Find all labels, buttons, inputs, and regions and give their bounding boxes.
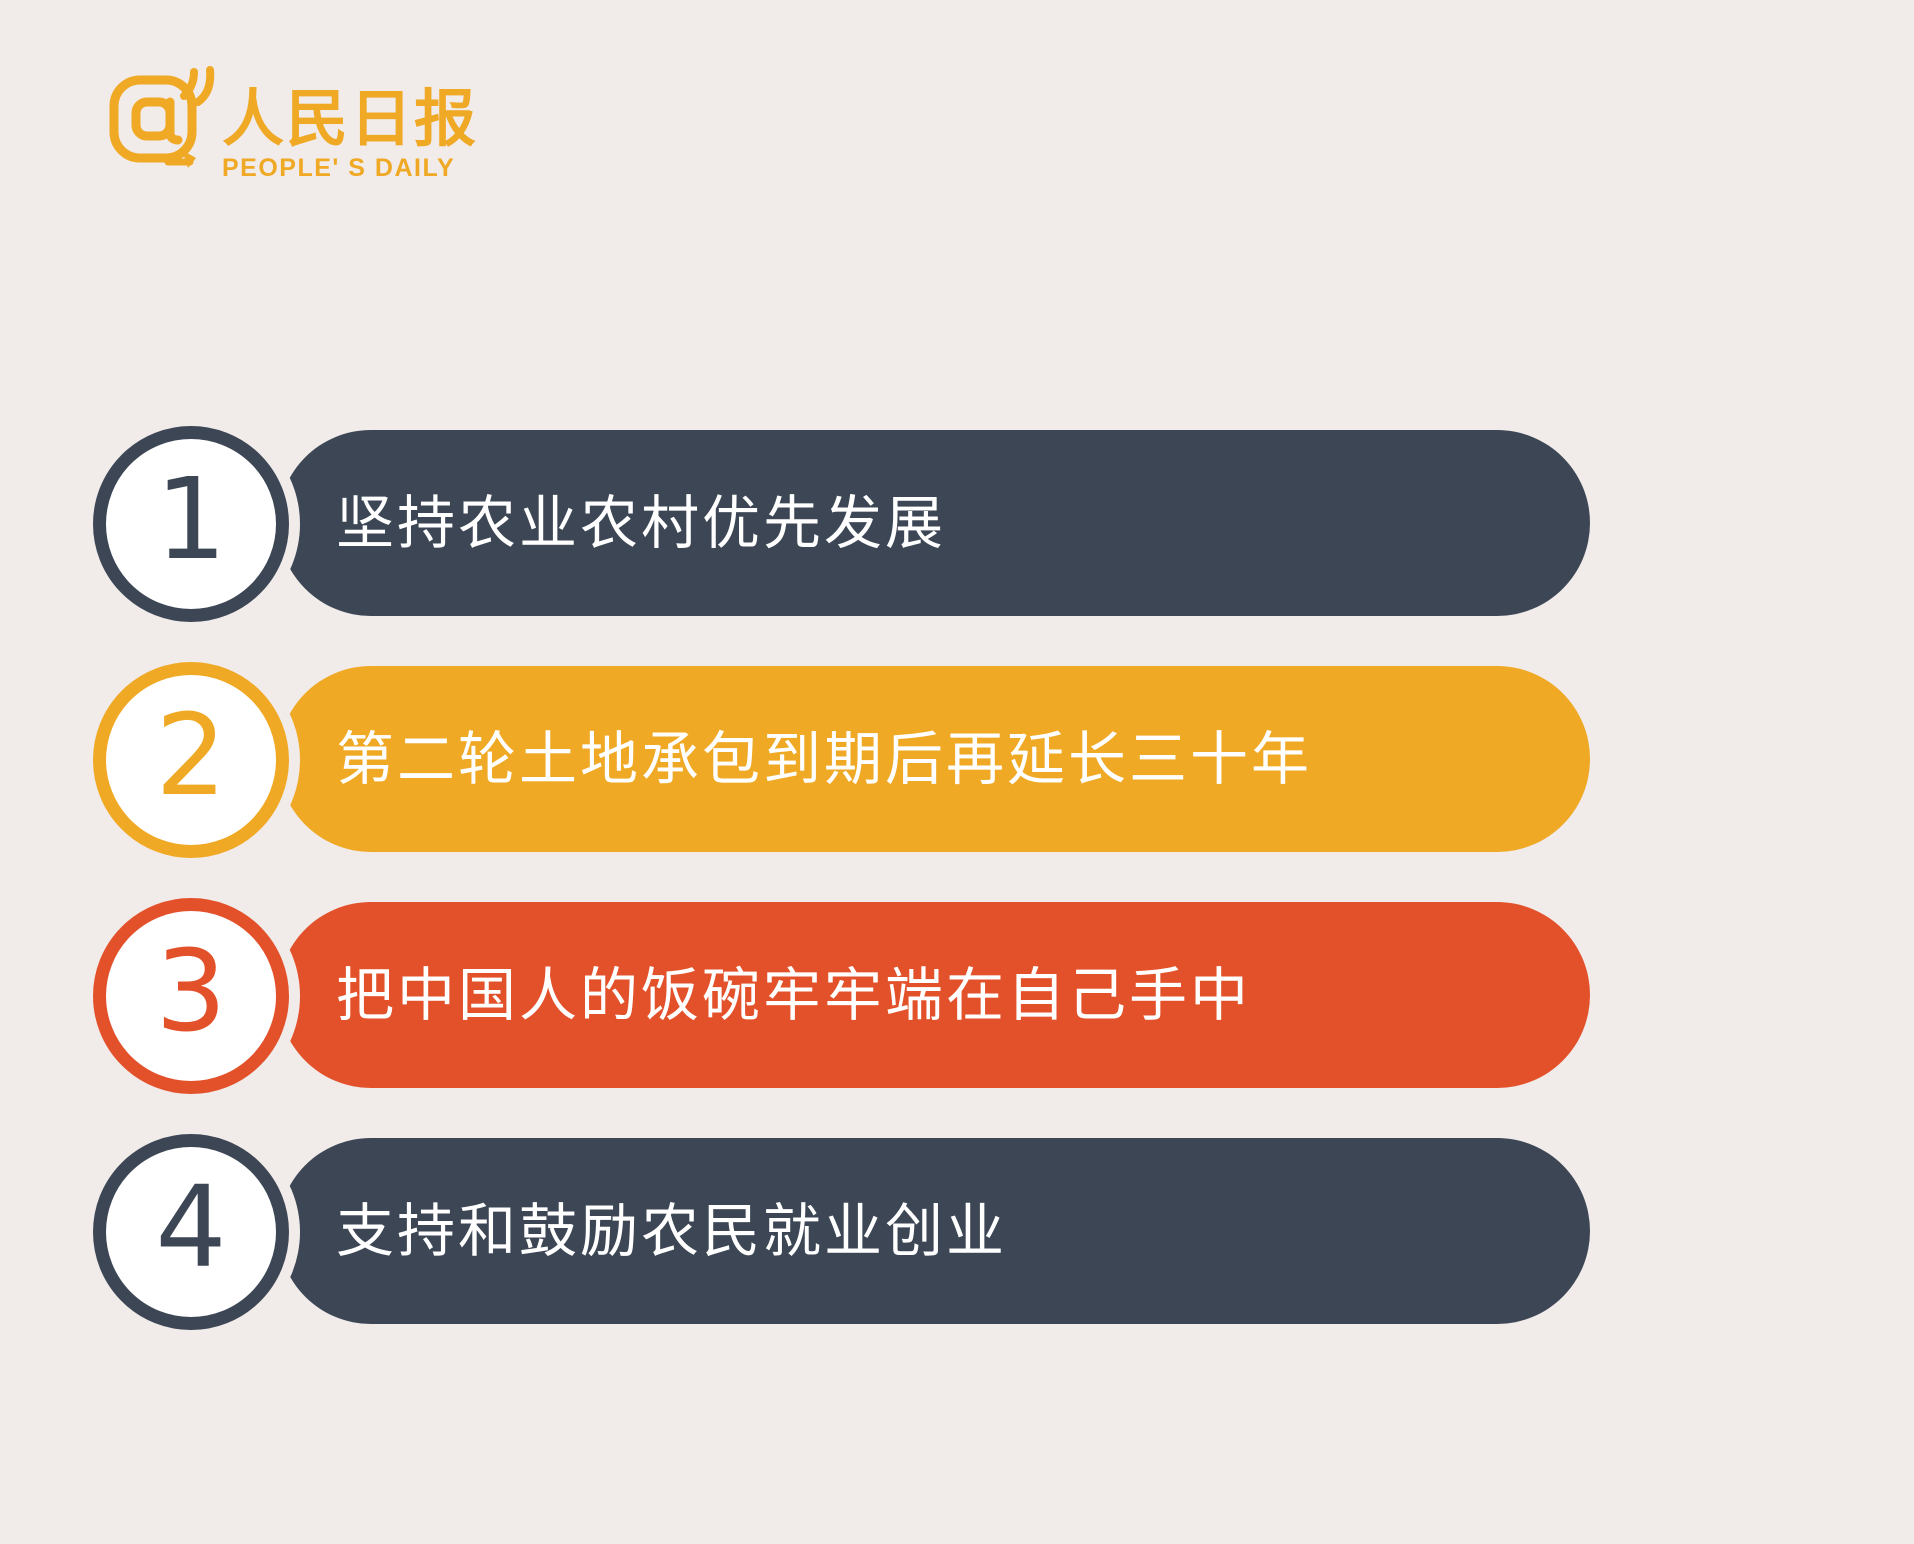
- list-item-bar-3: 把中国人的饭碗牢牢端在自己手中: [278, 902, 1590, 1088]
- list-item-number: 4: [155, 1172, 226, 1284]
- list-item-bar-4: 支持和鼓励农民就业创业: [278, 1138, 1590, 1324]
- list-item: 把中国人的饭碗牢牢端在自己手中 3: [0, 902, 1914, 1088]
- publisher-logo: 人民日报 PEOPLE' S DAILY: [108, 62, 478, 181]
- list-item: 第二轮土地承包到期后再延长三十年 2: [0, 666, 1914, 852]
- list-item-label: 支持和鼓励农民就业创业: [336, 1202, 1007, 1260]
- logo-brand-cn: 人民日报: [222, 88, 478, 150]
- numbered-list: 坚持农业农村优先发展 1 第二轮土地承包到期后再延长三十年 2 把中国人的饭碗牢…: [0, 430, 1914, 1324]
- list-item-badge-1: 1: [93, 426, 289, 622]
- list-item-number: 3: [155, 936, 226, 1048]
- list-item-label: 第二轮土地承包到期后再延长三十年: [336, 730, 1312, 788]
- list-item: 坚持农业农村优先发展 1: [0, 430, 1914, 616]
- logo-brand-en: PEOPLE' S DAILY: [222, 156, 478, 181]
- list-item-number: 1: [155, 464, 226, 576]
- list-item-label: 坚持农业农村优先发展: [336, 494, 946, 552]
- list-item-bar-2: 第二轮土地承包到期后再延长三十年: [278, 666, 1590, 852]
- list-item-number: 2: [155, 700, 226, 812]
- list-item: 支持和鼓励农民就业创业 4: [0, 1138, 1914, 1324]
- list-item-badge-2: 2: [93, 662, 289, 858]
- list-item-bar-1: 坚持农业农村优先发展: [278, 430, 1590, 616]
- list-item-label: 把中国人的饭碗牢牢端在自己手中: [336, 966, 1251, 1024]
- list-item-badge-4: 4: [93, 1134, 289, 1330]
- at-sign-wifi-icon: [108, 62, 216, 174]
- list-item-badge-3: 3: [93, 898, 289, 1094]
